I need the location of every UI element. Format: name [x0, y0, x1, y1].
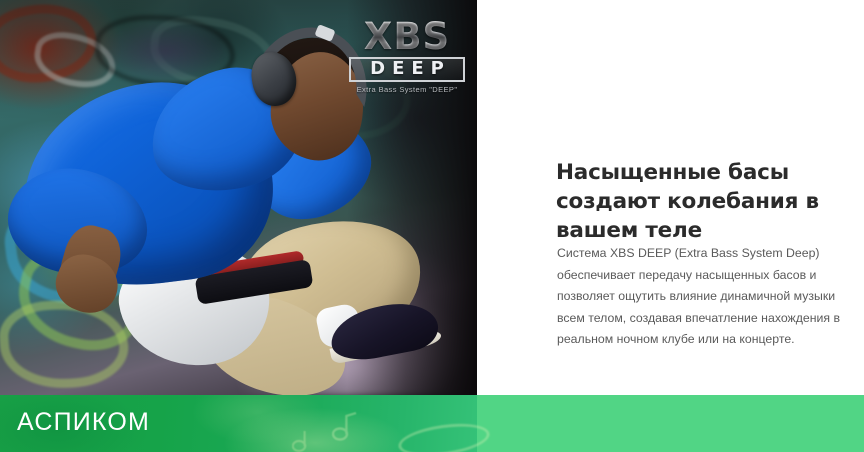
xbs-deep-logo: XBS DEEP Extra Bass System "DEEP": [341, 18, 473, 84]
promo-text-panel: Насыщенные басы создают колебания в ваше…: [477, 0, 864, 395]
footer-swoosh-decor: [396, 419, 491, 452]
deep-badge-box: DEEP: [349, 57, 465, 82]
music-note-icon: [332, 411, 358, 441]
promo-banner: XBS DEEP Extra Bass System "DEEP" Насыще…: [0, 0, 864, 452]
footer-band: АСПИКОМ: [0, 395, 864, 452]
brand-name: АСПИКОМ: [17, 408, 150, 437]
product-lifestyle-photo: XBS DEEP Extra Bass System "DEEP": [0, 0, 477, 395]
deep-wordmark: DEEP: [351, 60, 463, 78]
footer-band-image-section: АСПИКОМ: [0, 395, 477, 452]
music-note-icon: [292, 427, 316, 452]
logo-tagline: Extra Bass System "DEEP": [341, 86, 473, 94]
promo-heading: Насыщенные басы создают колебания в ваше…: [556, 158, 856, 245]
promo-description: Система XBS DEEP (Extra Bass System Deep…: [557, 243, 852, 351]
xbs-wordmark: XBS: [341, 18, 473, 55]
